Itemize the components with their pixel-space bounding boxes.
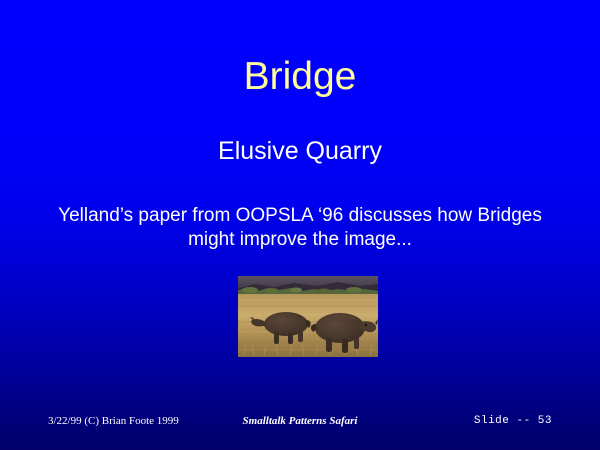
rhinos-photo-graphic xyxy=(238,276,378,357)
footer-slide-number: Slide -- 53 xyxy=(474,414,552,428)
presentation-slide: Bridge Elusive Quarry Yelland’s paper fr… xyxy=(0,0,600,450)
slide-body-text: Yelland’s paper from OOPSLA ‘96 discusse… xyxy=(45,204,555,252)
slide-subtitle: Elusive Quarry xyxy=(0,136,600,166)
rhinos-photo xyxy=(238,276,378,357)
slide-title: Bridge xyxy=(0,55,600,99)
